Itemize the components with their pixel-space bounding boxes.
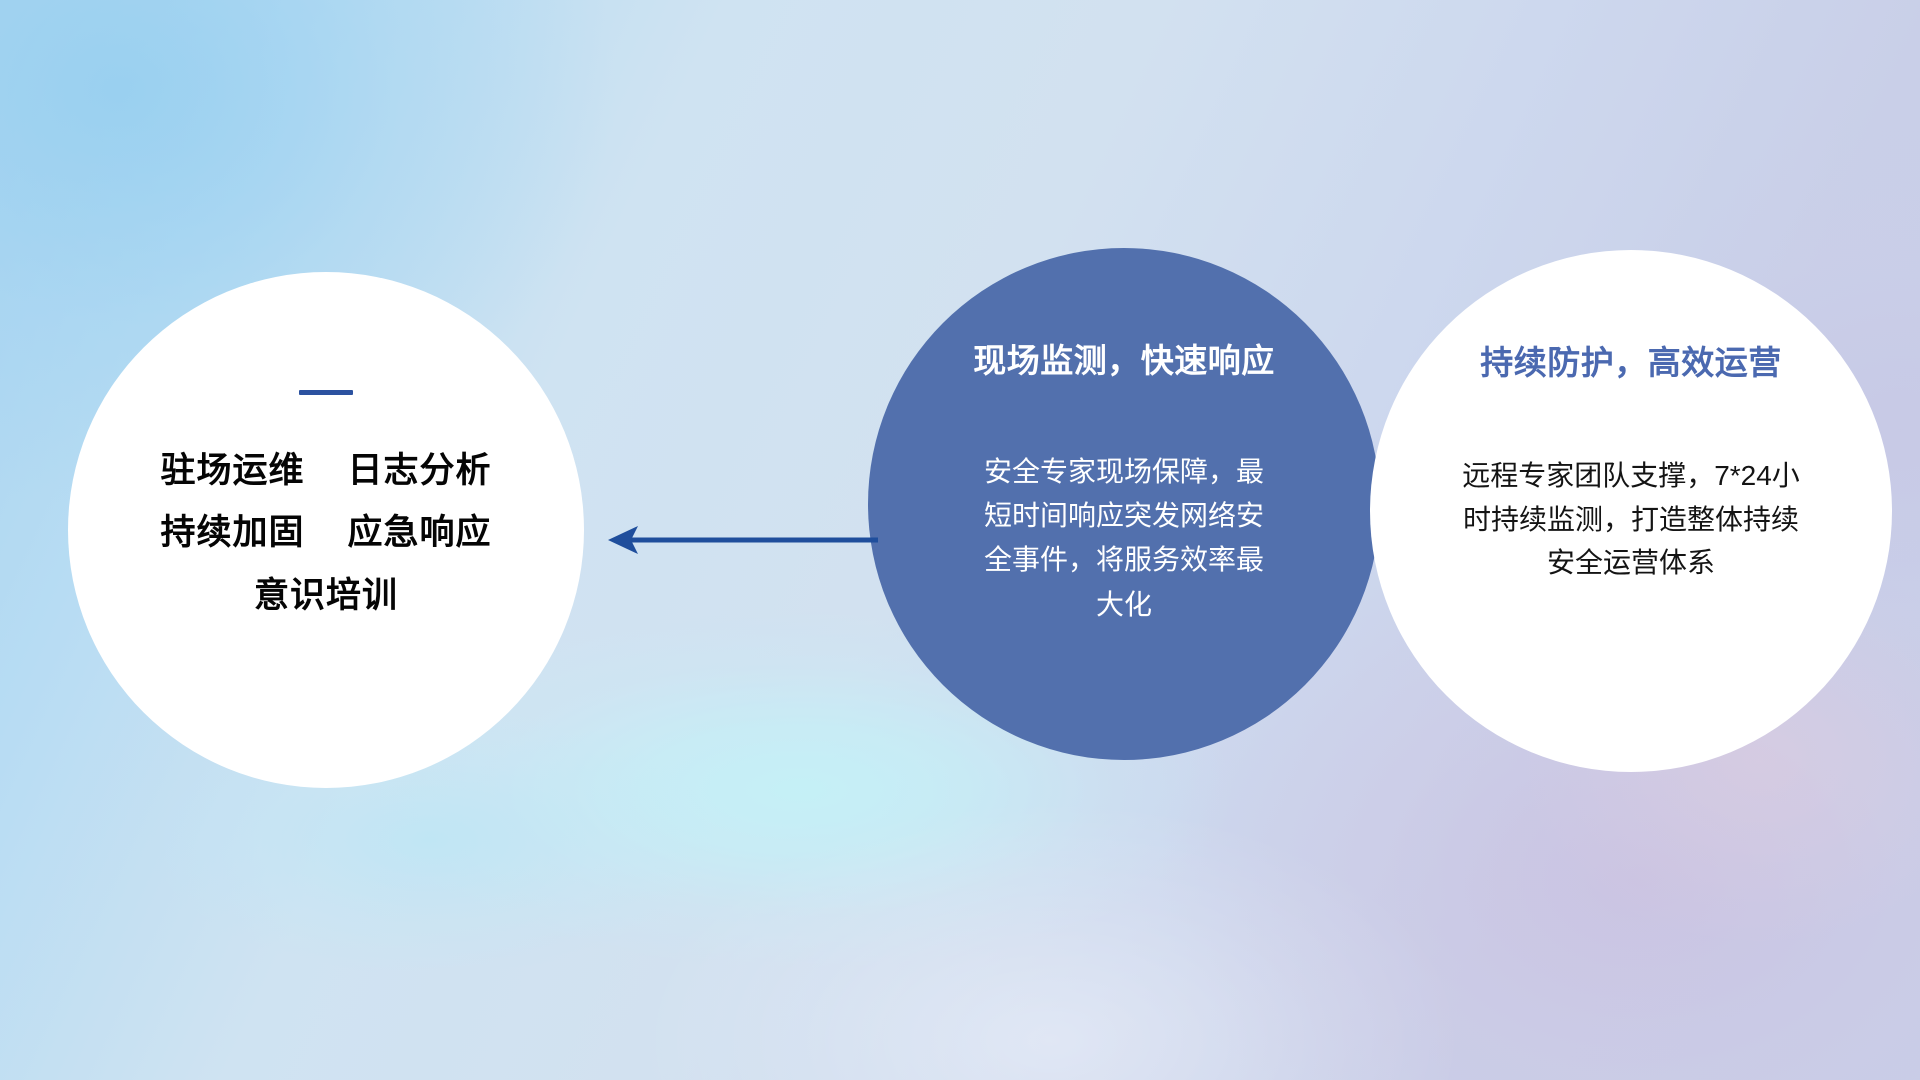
slide-canvas: 驻场运维 日志分析 持续加固 应急响应 意识培训 现场监测，快速响应 安全专家现… (0, 0, 1920, 1080)
capability-list: 驻场运维 日志分析 持续加固 应急响应 意识培训 (161, 447, 492, 620)
capability-circle-left[interactable]: 驻场运维 日志分析 持续加固 应急响应 意识培训 (68, 272, 584, 788)
capability-line-3: 意识培训 (254, 572, 398, 620)
onsite-title: 现场监测，快速响应 (973, 334, 1275, 382)
service-circle-continuous[interactable]: 持续防护，高效运营 远程专家团队支撑，7*24小时持续监测，打造整体持续安全运营… (1370, 250, 1892, 772)
right-circle-content: 持续防护，高效运营 远程专家团队支撑，7*24小时持续监测，打造整体持续安全运营… (1370, 336, 1892, 585)
continuous-title: 持续防护，高效运营 (1480, 336, 1782, 384)
capability-line-2: 持续加固 应急响应 (161, 509, 492, 557)
left-circle-content: 驻场运维 日志分析 持续加固 应急响应 意识培训 (68, 390, 584, 620)
continuous-description: 远程专家团队支撑，7*24小时持续监测，打造整体持续安全运营体系 (1461, 454, 1801, 585)
onsite-description: 安全专家现场保障，最短时间响应突发网络安全事件，将服务效率最大化 (972, 450, 1277, 627)
flow-arrow-left-icon (600, 512, 880, 568)
divider-rule-icon (299, 390, 353, 395)
middle-circle-content: 现场监测，快速响应 安全专家现场保障，最短时间响应突发网络安全事件，将服务效率最… (868, 334, 1380, 627)
capability-line-1: 驻场运维 日志分析 (161, 447, 492, 495)
service-circle-onsite[interactable]: 现场监测，快速响应 安全专家现场保障，最短时间响应突发网络安全事件，将服务效率最… (868, 248, 1380, 760)
